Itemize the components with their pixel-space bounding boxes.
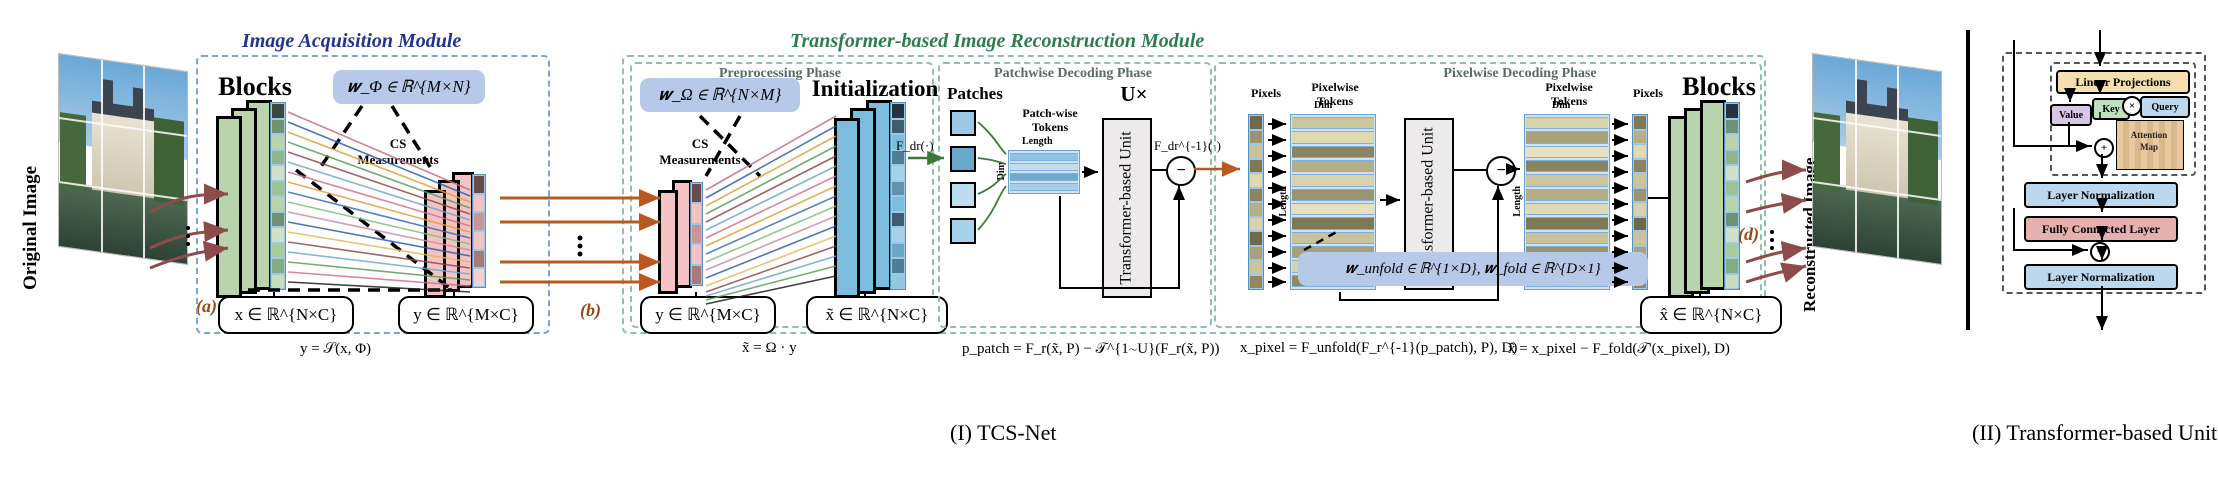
block-green-1 bbox=[216, 116, 242, 298]
fdr-inverse-label: F_dr^{-1}(·) bbox=[1154, 138, 1221, 154]
residual-sum-op-2: + bbox=[2090, 242, 2110, 262]
acquisition-weight-pill: 𝒘_Φ ∈ ℝ^{M×N} bbox=[333, 70, 485, 104]
pixelwise-equation-pixel: x_pixel = F_unfold(F_r^{-1}(p_patch), P)… bbox=[1240, 340, 1517, 357]
out-block-cells bbox=[1724, 102, 1740, 290]
pixelwise-length-ruler-1: Length bbox=[1278, 186, 1289, 220]
linear-projections-box: Linear Projections bbox=[2056, 70, 2190, 94]
original-image-photo bbox=[58, 53, 188, 265]
pixelwise-dim-ruler-2: Dim bbox=[1552, 100, 1570, 111]
block-pink-cells bbox=[472, 174, 486, 288]
u-times-label: U× bbox=[1104, 82, 1164, 107]
patch-square-1 bbox=[950, 110, 976, 136]
panel-separator bbox=[1966, 30, 1970, 330]
init-block-1 bbox=[834, 118, 860, 298]
attention-map-label-2: Map bbox=[2116, 142, 2182, 152]
patchwise-tokens-box bbox=[1008, 150, 1080, 194]
patchwise-dim-ruler: Dim bbox=[996, 162, 1007, 183]
pixelwise-dim-ruler-1: Dim bbox=[1314, 100, 1332, 111]
init-block-cells bbox=[890, 102, 906, 290]
acquisition-equation: y = 𝒮(x, Φ) bbox=[300, 340, 371, 358]
layer-norm-box-2: Layer Normalization bbox=[2024, 264, 2178, 290]
attention-map-label-1: Attention bbox=[2116, 130, 2182, 140]
patchwise-tokens-label-2: Tokens bbox=[1000, 120, 1100, 135]
preprocessing-equation: x̃ = Ω · y bbox=[742, 340, 797, 357]
original-image-label: Original Image bbox=[20, 166, 42, 290]
initialization-label: Initialization bbox=[790, 76, 960, 102]
marker-b: (b) bbox=[580, 300, 601, 321]
unfold-fold-weights-pill: 𝒘_unfold ∈ ℝ^{1×D}, 𝒘_fold ∈ ℝ^{D×1} bbox=[1298, 252, 1648, 286]
pixelwise-phase-title: Pixelwise Decoding Phase bbox=[1380, 66, 1660, 82]
out-block-green-3 bbox=[1700, 100, 1726, 290]
patchwise-length-ruler: Length bbox=[1022, 136, 1053, 147]
patch-square-3 bbox=[950, 182, 976, 208]
block-pink-1 bbox=[424, 190, 446, 298]
acquisition-cs-label-1: CS bbox=[358, 136, 438, 152]
patch-square-2 bbox=[950, 146, 976, 172]
block-green-cells bbox=[270, 102, 286, 290]
y-formula-box: y ∈ ℝ^{M×C} bbox=[398, 296, 534, 334]
pixels-column-left bbox=[1248, 114, 1264, 290]
pixels-label-left: Pixels bbox=[1236, 86, 1296, 101]
xtilde-formula-box: x̃ ∈ ℝ^{N×C} bbox=[806, 296, 948, 334]
marker-d: (d) bbox=[1738, 224, 1759, 245]
pixelwise-tokens2-label-1: Pixelwise bbox=[1524, 80, 1614, 95]
patches-label: Patches bbox=[940, 84, 1010, 104]
patchwise-transformer-unit: Transformer-based Unit bbox=[1102, 118, 1152, 298]
fully-connected-box: Fully Connected Layer bbox=[2024, 216, 2178, 242]
xhat-formula-box: x̂ ∈ ℝ^{N×C} bbox=[1640, 296, 1782, 334]
prep-block-pink-1 bbox=[658, 190, 678, 294]
patchwise-tokens-label-1: Patch-wise bbox=[1000, 106, 1100, 121]
patchwise-phase-title: Patchwise Decoding Phase bbox=[938, 66, 1208, 82]
attention-multiply-op: × bbox=[2122, 96, 2142, 116]
acquisition-blocks-label: Blocks bbox=[200, 72, 310, 102]
reconstruction-module-title: Transformer-based Image Reconstruction M… bbox=[790, 30, 1204, 53]
pixelwise-tokens-label-2: Tokens bbox=[1290, 94, 1380, 109]
patchwise-equation: p_patch = F_r(x̃, P) − 𝒯^{1∼U}(F_r(x̃, P… bbox=[962, 340, 1219, 358]
fdr-forward-label: F_dr(·) bbox=[896, 138, 934, 154]
caption-left: (I) TCS-Net bbox=[950, 420, 1057, 446]
pixelwise-minus-op[interactable]: − bbox=[1486, 156, 1516, 186]
value-box: Value bbox=[2050, 104, 2092, 126]
caption-right: (II) Transformer-based Unit bbox=[1972, 420, 2217, 446]
acquisition-module-title: Image Acquisition Module bbox=[242, 30, 461, 53]
x-formula-box: x ∈ ℝ^{N×C} bbox=[218, 296, 354, 334]
attention-sum-op-1: + bbox=[2094, 138, 2114, 158]
reconstructed-image-photo bbox=[1812, 53, 1942, 265]
layer-norm-box-1: Layer Normalization bbox=[2024, 182, 2178, 208]
preprocessing-cs-label-2: Measurements bbox=[640, 152, 760, 168]
pixelwise-length-ruler-2: Length bbox=[1512, 186, 1523, 220]
prep-pink-cells bbox=[690, 182, 703, 286]
patch-square-4 bbox=[950, 218, 976, 244]
pixelwise-blocks-label: Blocks bbox=[1664, 72, 1774, 102]
preprocessing-cs-label-1: CS bbox=[660, 136, 740, 152]
acquisition-cs-label-2: Measurements bbox=[338, 152, 458, 168]
prep-y-formula-box: y ∈ ℝ^{M×C} bbox=[640, 296, 776, 334]
preprocessing-weight-pill: 𝒘_Ω ∈ ℝ^{N×M} bbox=[640, 78, 800, 112]
pixelwise-tokens-label-1: Pixelwise bbox=[1290, 80, 1380, 95]
pixelwise-equation-xhat: x̂ = x_pixel − F_fold(𝒯'(x_pixel), D) bbox=[1508, 340, 1730, 358]
patchwise-minus-op[interactable]: − bbox=[1166, 156, 1196, 186]
query-box: Query bbox=[2140, 96, 2190, 118]
